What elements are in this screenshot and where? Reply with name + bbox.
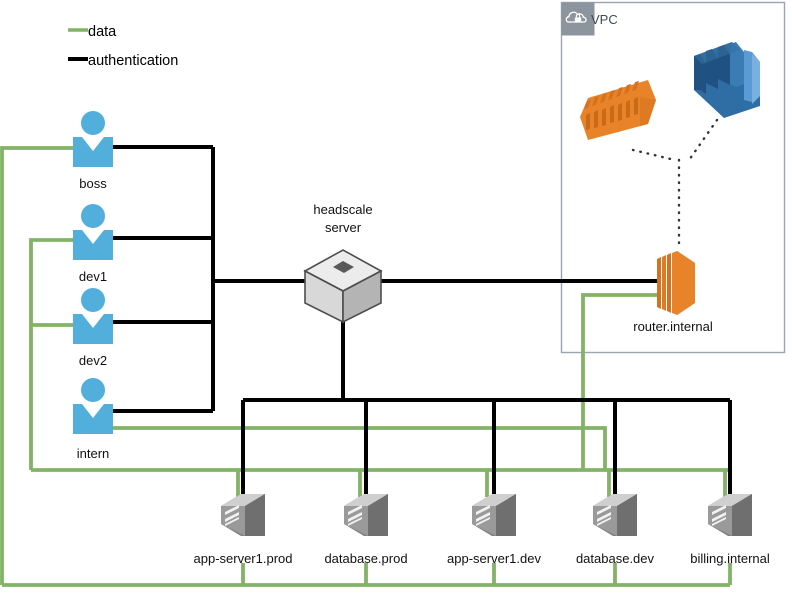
user-label-intern: intern: [77, 446, 110, 461]
server-icon: [708, 494, 752, 536]
vpc-label: VPC: [591, 12, 618, 27]
legend-item-authentication: authentication: [68, 53, 178, 69]
node-app-server1-prod[interactable]: app-server1.prod: [194, 494, 293, 566]
server-nodes: app-server1.prod database.prod app-serve…: [194, 494, 770, 566]
user-icon: [73, 204, 113, 260]
server-icon: [472, 494, 516, 536]
cube-icon: [305, 250, 381, 322]
server-label-database-prod: database.prod: [324, 551, 407, 566]
user-icon: [73, 378, 113, 434]
diagram-canvas: data authentication VPC: [0, 0, 792, 593]
server-label-app-server1-prod: app-server1.prod: [194, 551, 293, 566]
server-icon: [221, 494, 265, 536]
legend-item-data: data: [68, 24, 117, 40]
user-icon: [73, 288, 113, 344]
node-database-dev[interactable]: database.dev: [576, 494, 655, 566]
network-diagram: data authentication VPC: [0, 0, 792, 593]
aws-router-icon: [657, 251, 695, 315]
server-label-billing-internal: billing.internal: [690, 551, 770, 566]
legend-data-label: data: [88, 24, 117, 40]
node-app-server1-dev[interactable]: app-server1.dev: [447, 494, 541, 566]
node-user-intern[interactable]: intern: [73, 378, 113, 461]
legend-auth-label: authentication: [88, 53, 178, 69]
node-user-dev2[interactable]: dev2: [73, 288, 113, 368]
headscale-label-line2: server: [325, 220, 362, 235]
node-headscale-server[interactable]: headscale server: [305, 202, 381, 322]
legend: data authentication: [68, 24, 178, 69]
headscale-label-line1: headscale: [313, 202, 372, 217]
server-icon: [593, 494, 637, 536]
node-user-dev1[interactable]: dev1: [73, 204, 113, 284]
node-database-prod[interactable]: database.prod: [324, 494, 407, 566]
user-nodes: boss dev1 dev2 intern: [73, 111, 113, 461]
server-icon: [344, 494, 388, 536]
node-billing-internal[interactable]: billing.internal: [690, 494, 770, 566]
user-label-boss: boss: [79, 176, 107, 191]
node-user-boss[interactable]: boss: [73, 111, 113, 191]
server-label-app-server1-dev: app-server1.dev: [447, 551, 541, 566]
user-label-dev1: dev1: [79, 269, 107, 284]
router-label: router.internal: [633, 319, 713, 334]
user-label-dev2: dev2: [79, 353, 107, 368]
server-label-database-dev: database.dev: [576, 551, 655, 566]
data-wire-intern: [113, 428, 605, 470]
user-icon: [73, 111, 113, 167]
